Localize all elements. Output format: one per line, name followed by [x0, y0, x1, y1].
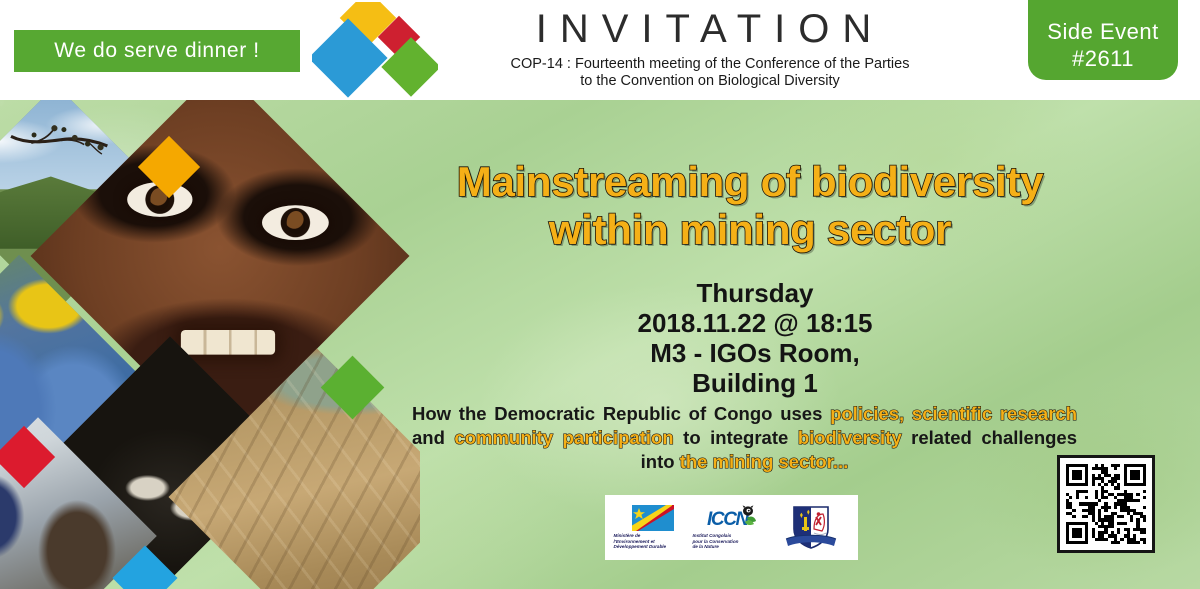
- cop14-diamond-logo: [312, 2, 438, 98]
- event-title-line2: within mining sector: [400, 206, 1100, 254]
- logo-item-ministry: Ministère de l'Environnement et Développ…: [614, 505, 692, 550]
- side-event-label: Side Event: [1047, 18, 1158, 45]
- logo-item-iccn: ICCN Institut Congolais pour la Conserva…: [693, 505, 771, 550]
- invitation-flyer: Mainstreaming of biodiversity within min…: [0, 0, 1200, 589]
- event-datetime: 2018.11.22 @ 18:15: [520, 308, 990, 338]
- logo-caption-iccn: Institut Congolais pour la Conservation …: [693, 533, 771, 550]
- flyer-header: We do serve dinner ! INVITATION COP-14 :…: [0, 0, 1200, 100]
- desc-seg-4: to integrate: [674, 427, 798, 448]
- ministry-caption-3: Développement Durable: [614, 544, 692, 550]
- partner-logos-panel: Ministère de l'Environnement et Développ…: [605, 495, 858, 560]
- eye-right: [263, 205, 329, 240]
- drc-flag-ministry-logo: [632, 505, 674, 531]
- event-title-line1: Mainstreaming of biodiversity: [400, 158, 1100, 206]
- cop-subtitle-line1: COP-14 : Fourteenth meeting of the Confe…: [450, 56, 970, 73]
- desc-seg-2: [904, 403, 912, 424]
- dinner-banner: We do serve dinner !: [14, 30, 300, 72]
- side-event-badge: Side Event #2611: [1028, 0, 1178, 80]
- iccn-logo: ICCN: [707, 505, 757, 531]
- event-description: How the Democratic Republic of Congo use…: [412, 402, 1077, 474]
- event-schedule: Thursday 2018.11.22 @ 18:15 M3 - IGOs Ro…: [520, 278, 990, 398]
- iccn-caption-3: de la Nature: [693, 544, 771, 550]
- event-room: M3 - IGOs Room,: [520, 338, 990, 368]
- desc-highlight-scientific-research: scientific research: [912, 403, 1077, 424]
- dinner-banner-label: We do serve dinner !: [54, 39, 259, 63]
- photo-collage: [0, 100, 420, 589]
- invitation-title: INVITATION: [450, 2, 970, 56]
- qr-code-pattern: [1066, 464, 1146, 544]
- teeth-detail: [181, 330, 274, 355]
- event-title: Mainstreaming of biodiversity within min…: [400, 158, 1100, 254]
- desc-highlight-mining-sector: the mining sector...: [680, 451, 849, 472]
- desc-highlight-community-participation: community participation: [454, 427, 673, 448]
- cop-subtitle-line2: to the Convention on Biological Diversit…: [450, 73, 970, 90]
- qr-code[interactable]: [1057, 455, 1155, 553]
- event-content: Mainstreaming of biodiversity within min…: [400, 100, 1200, 589]
- invitation-block: INVITATION COP-14 : Fourteenth meeting o…: [450, 2, 970, 90]
- side-event-number: #2611: [1072, 45, 1134, 72]
- event-building: Building 1: [520, 368, 990, 398]
- shield-crest-logo: [780, 503, 842, 553]
- logo-item-crest: [772, 503, 850, 553]
- logo-caption-ministry: Ministère de l'Environnement et Développ…: [614, 533, 692, 550]
- desc-seg-1: How the Democratic Republic of Congo use…: [412, 403, 830, 424]
- event-day: Thursday: [520, 278, 990, 308]
- desc-seg-3: and: [412, 427, 454, 448]
- desc-highlight-policies: policies,: [830, 403, 904, 424]
- desc-highlight-biodiversity: biodiversity: [798, 427, 902, 448]
